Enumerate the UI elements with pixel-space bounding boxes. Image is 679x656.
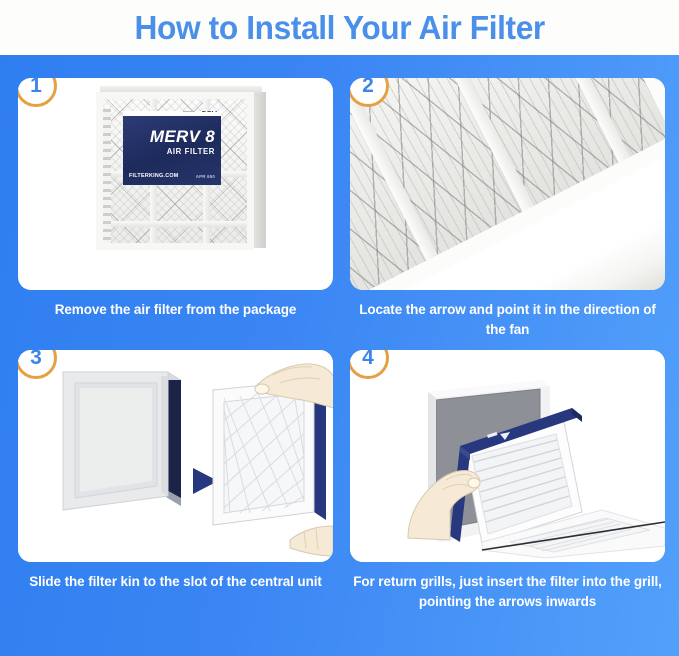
filter-corner-assembly: AIR FLOW Air Filter MERV 8 (350, 78, 665, 290)
step-3-illustration (18, 350, 333, 562)
filter-front-face: ♛ FILTER KING MADE IN USA (96, 92, 254, 250)
step-2: AIR FLOW Air Filter MERV 8 2 Locate the … (350, 78, 665, 339)
step-1-caption: Remove the air filter from the package (18, 300, 333, 320)
step-4-illustration (350, 350, 665, 562)
filter-support-bar (103, 221, 247, 227)
step-2-card: AIR FLOW Air Filter MERV 8 2 (350, 78, 665, 290)
hand-lower (290, 526, 333, 556)
step-2-caption: Locate the arrow and point it in the dir… (350, 300, 665, 339)
us-flag-icon (183, 111, 195, 112)
product-label: ♛ FILTER KING MADE IN USA (123, 111, 221, 185)
label-website: FILTERKING.COM (129, 173, 179, 179)
step-3: 3 Slide the filter kin to the slot of th… (18, 350, 333, 592)
insert-filter-into-return-grill-diagram (350, 350, 665, 562)
made-in-usa: MADE IN USA (201, 111, 217, 114)
step-3-caption: Slide the filter kin to the slot of the … (18, 572, 333, 592)
step-2-illustration: AIR FLOW Air Filter MERV 8 (350, 78, 665, 290)
how-to-install-air-filter-infographic: How to Install Your Air Filter (0, 0, 679, 656)
step-1: ♛ FILTER KING MADE IN USA (18, 78, 333, 320)
brand-name: FILTER KING (137, 111, 156, 113)
slide-filter-into-slot-diagram (18, 350, 333, 562)
step-4-caption: For return grills, just insert the filte… (350, 572, 665, 611)
step-4: 4 For return grills, just insert the fil… (350, 350, 665, 611)
brand-line-2: KING (137, 111, 151, 112)
country-text: USA (201, 111, 217, 114)
step-3-card: 3 (18, 350, 333, 562)
filter-king-logo: ♛ FILTER KING (129, 111, 156, 113)
step-1-illustration: ♛ FILTER KING MADE IN USA (18, 78, 333, 290)
filter-edge-notches (103, 109, 111, 250)
label-subtitle: AIR FILTER (123, 147, 215, 156)
page-title: How to Install Your Air Filter (134, 9, 544, 47)
central-unit-housing (63, 372, 181, 510)
label-apr: APR 650 (196, 174, 215, 179)
steps-grid: ♛ FILTER KING MADE IN USA (0, 55, 679, 656)
step-4-card: 4 (350, 350, 665, 562)
title-band: How to Install Your Air Filter (0, 0, 679, 55)
air-filter-product: ♛ FILTER KING MADE IN USA (96, 84, 266, 256)
step-1-card: ♛ FILTER KING MADE IN USA (18, 78, 333, 290)
merv-rating: MERV 8 (123, 127, 215, 147)
